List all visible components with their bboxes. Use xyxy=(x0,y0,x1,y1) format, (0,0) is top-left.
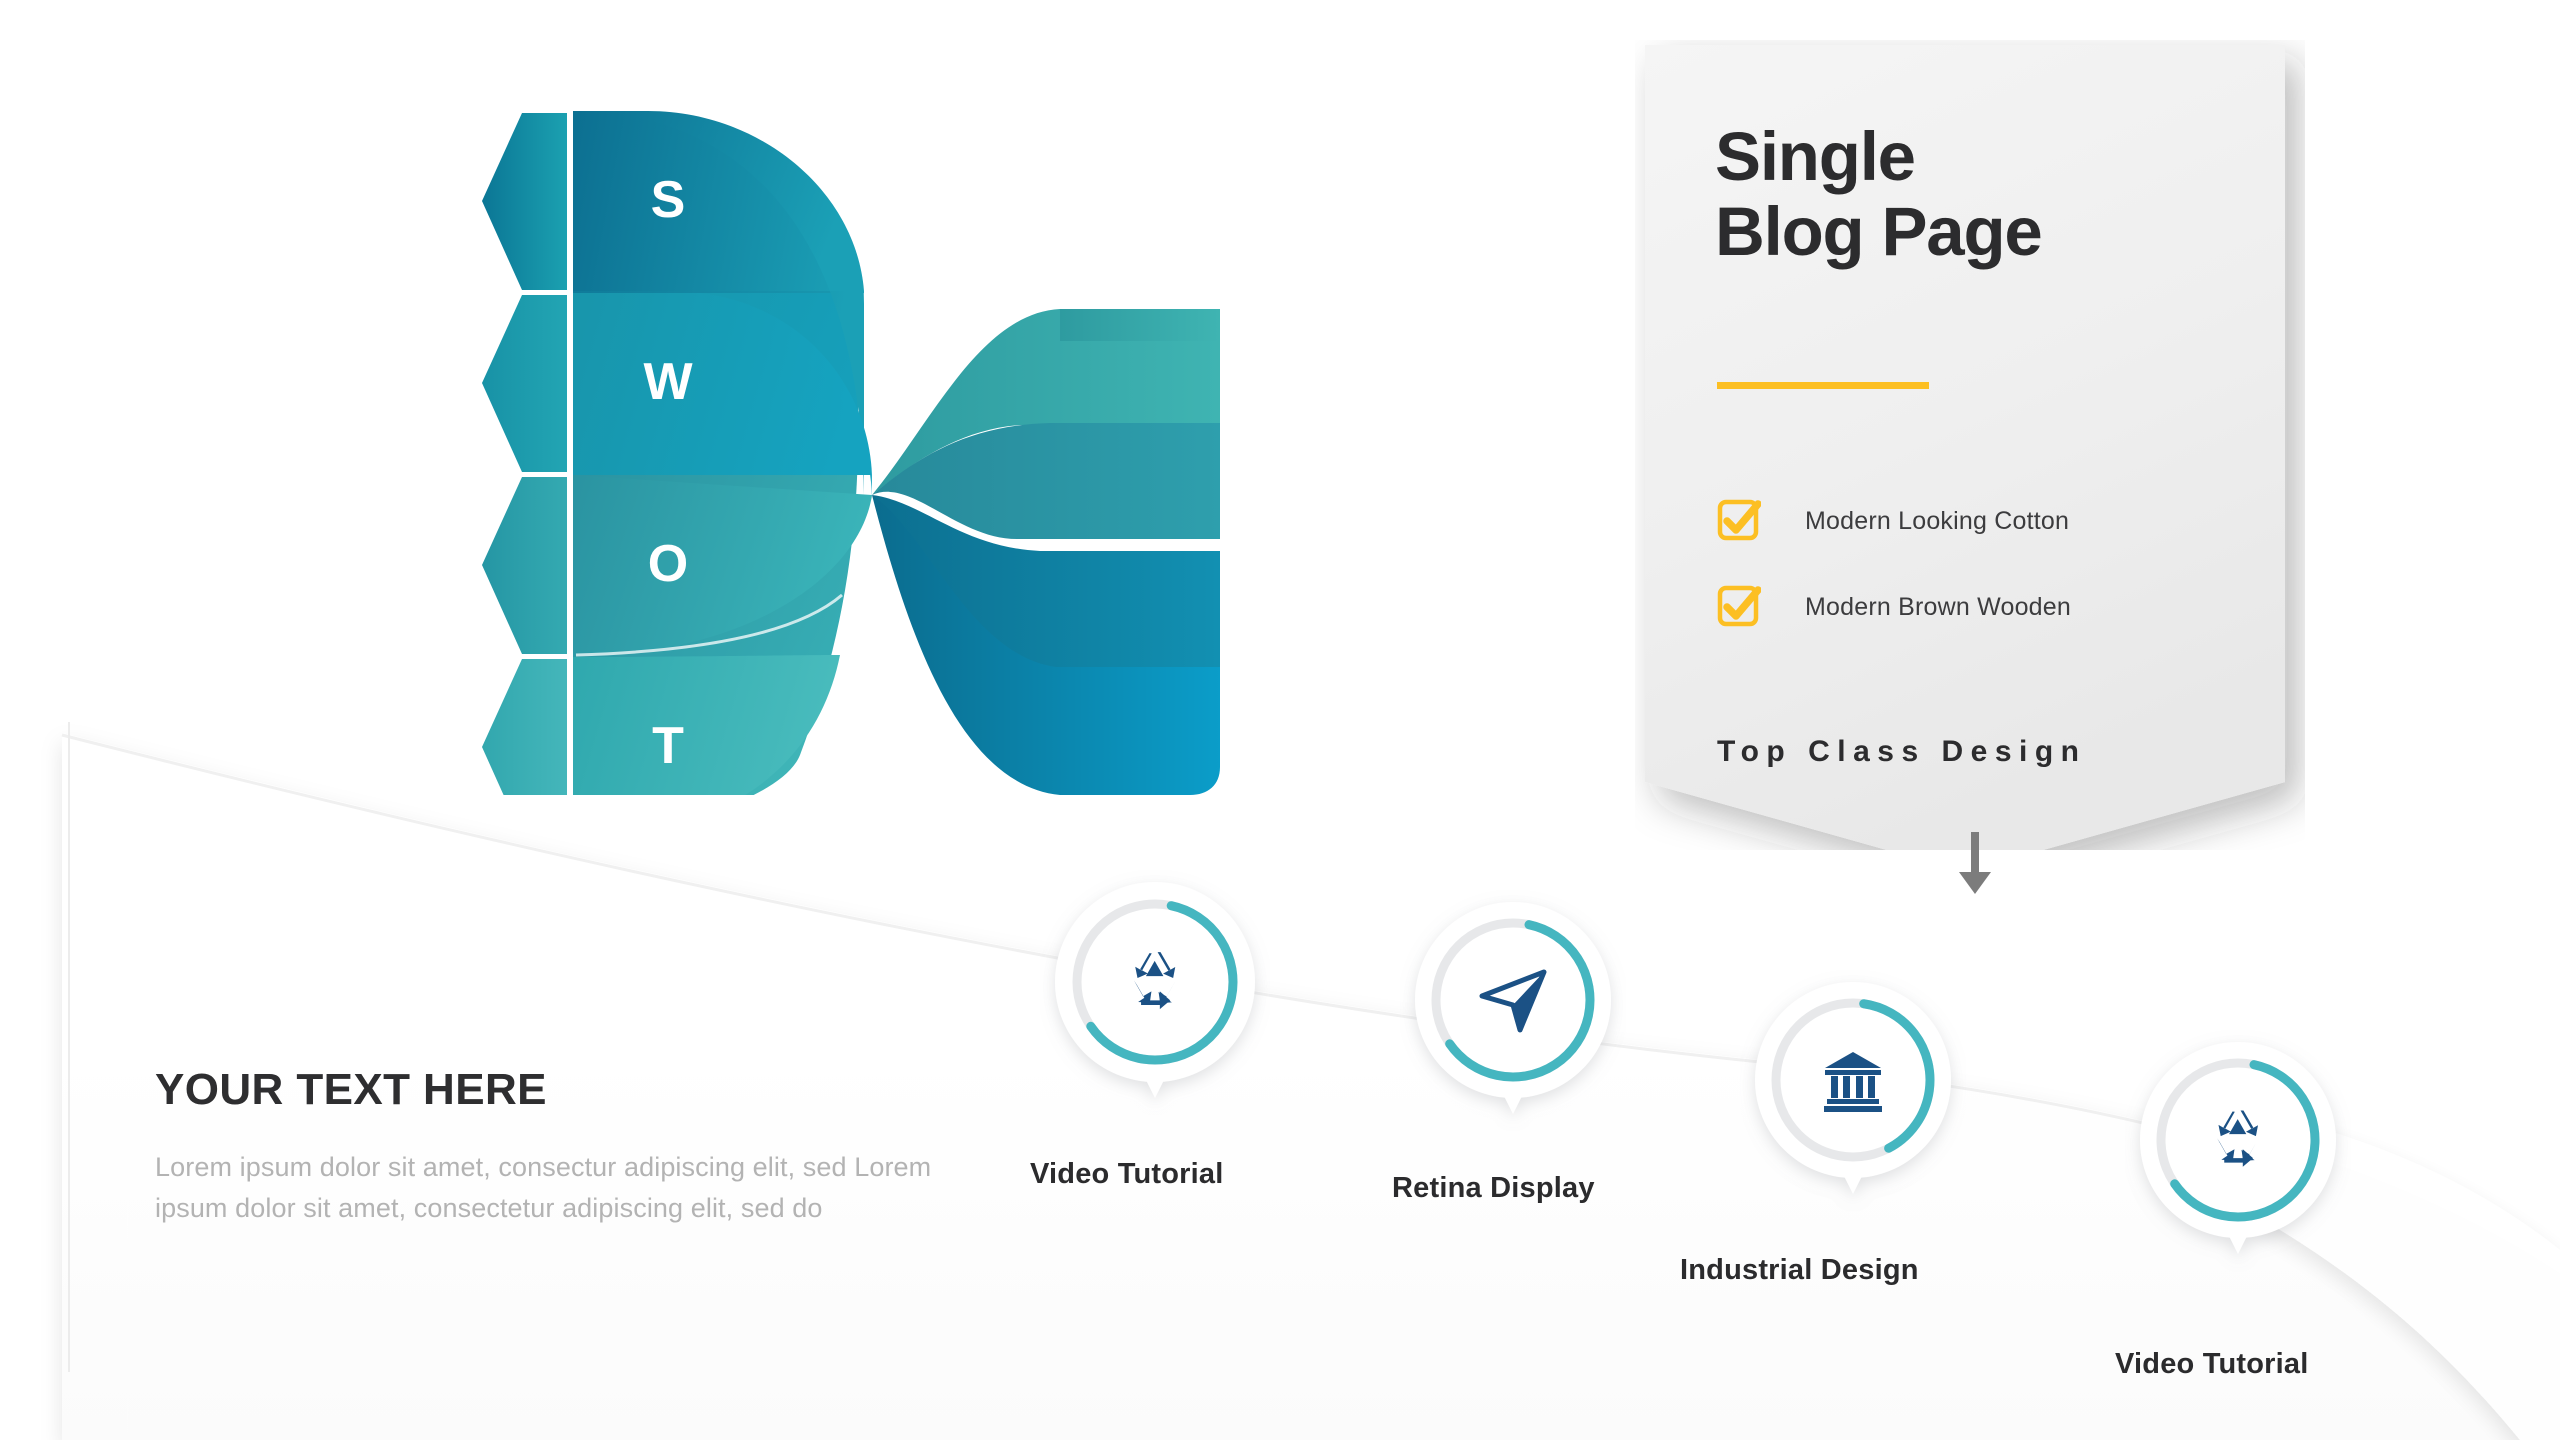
card-subtitle: Top Class Design xyxy=(1717,735,2087,769)
swot-letter-s: S xyxy=(651,171,686,229)
milestone-circle[interactable] xyxy=(2125,1030,2351,1274)
arrow-down-icon xyxy=(1953,830,1997,905)
checklist-item[interactable]: Modern Looking Cotton xyxy=(1717,493,2237,549)
blog-banner-card: Single Blog Page Modern Looking Cotton xyxy=(1635,40,2305,850)
card-title-line-2: Blog Page xyxy=(1715,195,2235,270)
checkbox-checked-icon[interactable] xyxy=(1717,499,1761,543)
checklist-item-label: Modern Looking Cotton xyxy=(1805,507,2069,536)
milestone-label: Video Tutorial xyxy=(1030,1158,1223,1191)
card-title-line-1: Single xyxy=(1715,120,2235,195)
milestone-4[interactable]: Video Tutorial xyxy=(2125,1030,2351,1279)
checkbox-checked-icon[interactable] xyxy=(1717,585,1761,629)
milestone-3[interactable]: Industrial Design xyxy=(1740,970,1966,1219)
milestone-circle[interactable] xyxy=(1740,970,1966,1214)
milestone-label: Retina Display xyxy=(1392,1172,1595,1205)
card-title: Single Blog Page xyxy=(1715,120,2235,269)
milestone-label: Industrial Design xyxy=(1680,1254,1919,1287)
left-margin-rule xyxy=(68,722,70,1372)
milestone-circle[interactable] xyxy=(1400,890,1626,1134)
card-checklist: Modern Looking Cotton Modern Brown Woode… xyxy=(1717,493,2237,665)
swot-letter-t: T xyxy=(652,717,684,775)
text-block: YOUR TEXT HERE Lorem ipsum dolor sit ame… xyxy=(155,1065,945,1229)
card-divider xyxy=(1717,382,1929,389)
presentation-slide: S W O T Single Blog Page xyxy=(0,0,2560,1440)
swot-diagram: S W O T xyxy=(460,95,1220,795)
text-block-body: Lorem ipsum dolor sit amet, consectur ad… xyxy=(155,1147,945,1229)
checklist-item-label: Modern Brown Wooden xyxy=(1805,593,2071,622)
swot-letter-w: W xyxy=(643,353,693,411)
milestone-label: Video Tutorial xyxy=(2115,1348,2308,1381)
milestone-circle[interactable] xyxy=(1040,870,1270,1118)
milestone-1[interactable]: Video Tutorial xyxy=(1040,870,1270,1123)
swot-letter-o: O xyxy=(648,535,688,593)
text-block-title: YOUR TEXT HERE xyxy=(155,1065,945,1115)
milestone-2[interactable]: Retina Display xyxy=(1400,890,1626,1139)
checklist-item[interactable]: Modern Brown Wooden xyxy=(1717,579,2237,635)
